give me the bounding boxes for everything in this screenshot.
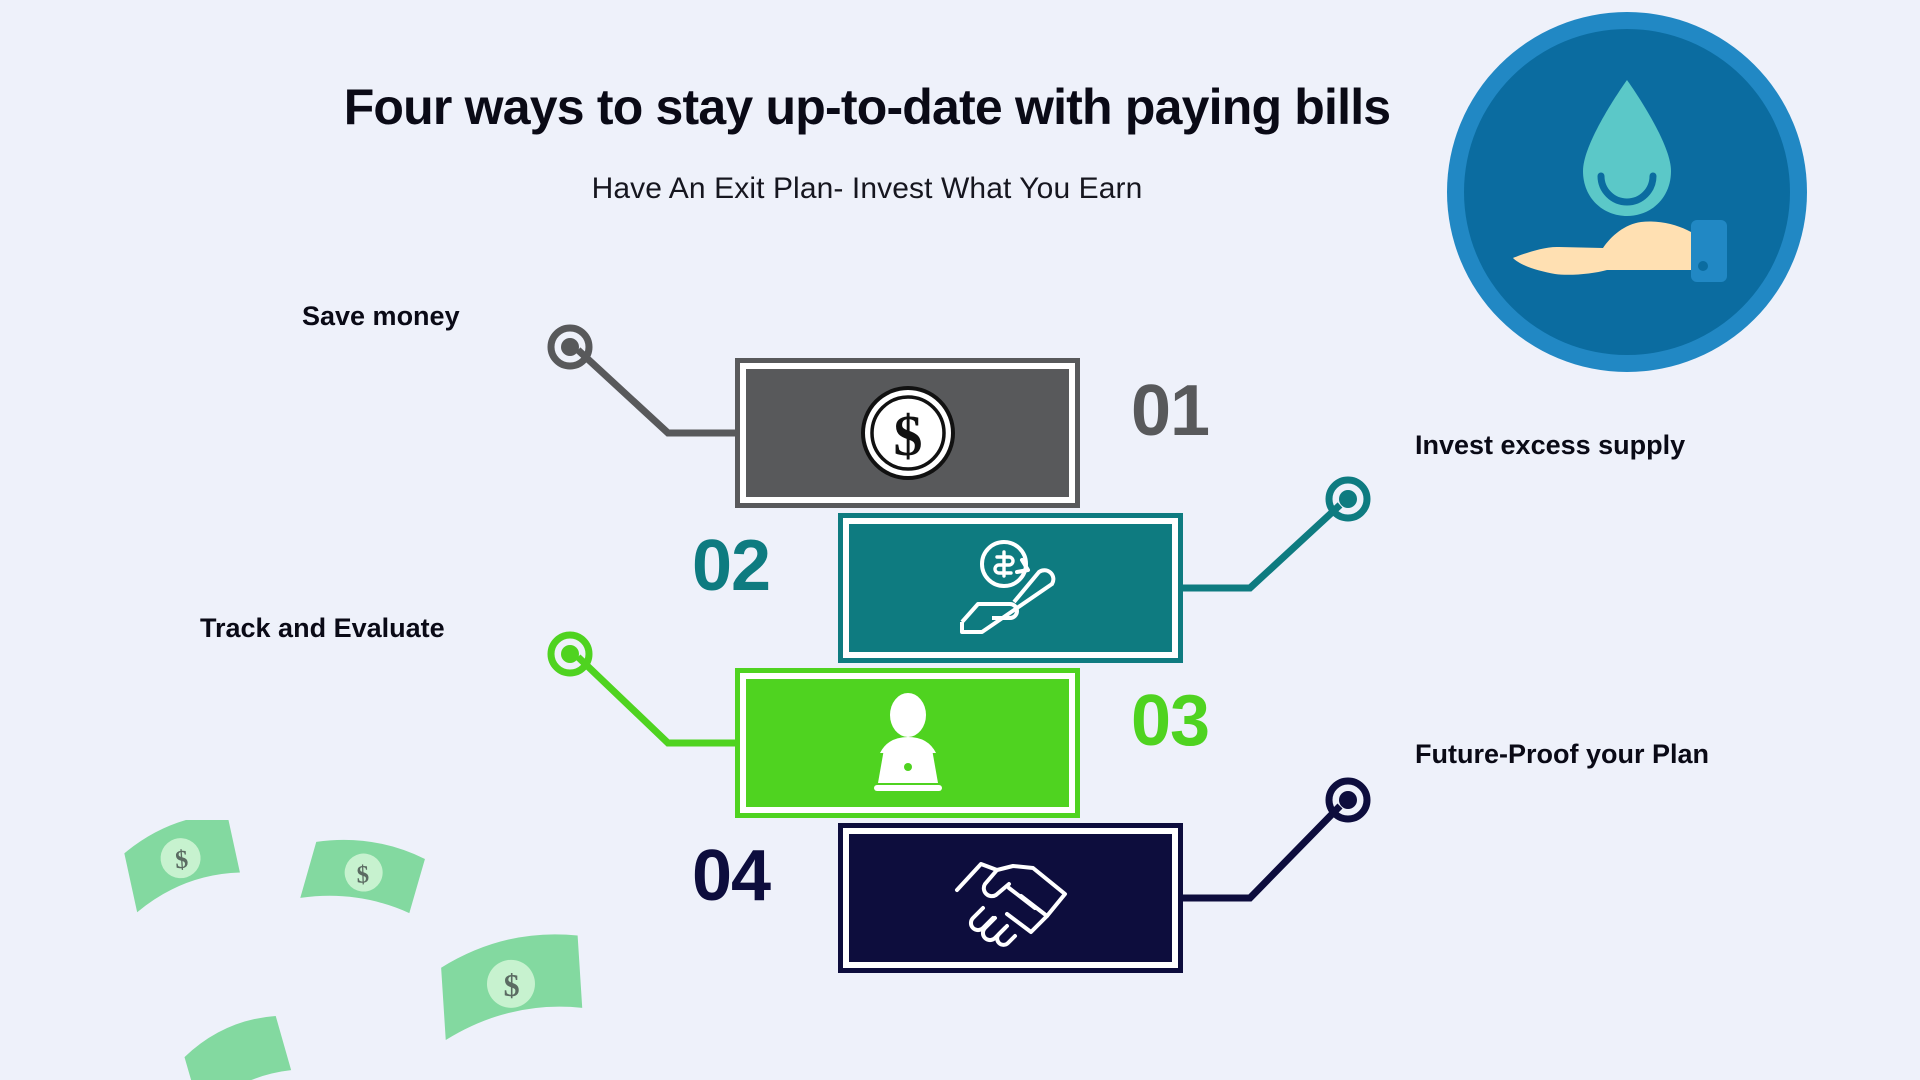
step-bar-04[interactable] <box>838 823 1183 973</box>
step-caption-future-proof-your-plan: Future-Proof your Plan <box>1415 741 1709 768</box>
banknote: $ <box>430 927 591 1040</box>
person-at-laptop-icon <box>860 691 956 795</box>
step-number-01: 01 <box>1131 375 1209 447</box>
step-bar-01[interactable]: $ <box>735 358 1080 508</box>
banknote <box>175 1009 299 1080</box>
banknote: $ <box>115 820 248 912</box>
dollar-coin-icon: $ <box>854 379 962 487</box>
step-number-03: 03 <box>1131 685 1209 757</box>
hand-holding-money-icon <box>952 536 1070 640</box>
step-bar-04-fill <box>849 834 1172 962</box>
connector-01 <box>551 328 735 433</box>
step-number-02: 02 <box>692 530 770 602</box>
svg-text:$: $ <box>504 967 520 1003</box>
step-bar-02-fill <box>849 524 1172 652</box>
infographic-canvas: Four ways to stay up-to-date with paying… <box>0 0 1920 1080</box>
handshake-icon <box>947 846 1075 950</box>
svg-text:$: $ <box>893 403 922 468</box>
step-caption-track-and-evaluate: Track and Evaluate <box>200 615 445 642</box>
step-number-04: 04 <box>692 840 770 912</box>
step-bar-03-fill <box>746 679 1069 807</box>
page-title: Four ways to stay up-to-date with paying… <box>292 80 1442 135</box>
falling-banknotes-decoration: $ $ $ <box>0 820 700 1080</box>
banknote: $ <box>300 831 426 918</box>
step-bar-01-fill: $ <box>746 369 1069 497</box>
water-drop-in-hand-badge <box>1443 8 1811 376</box>
step-bar-03[interactable] <box>735 668 1080 818</box>
svg-text:$: $ <box>356 861 369 888</box>
page-subtitle: Have An Exit Plan- Invest What You Earn <box>292 172 1442 206</box>
connector-04 <box>1183 781 1367 898</box>
step-caption-save-money: Save money <box>302 303 460 330</box>
connector-02 <box>1183 480 1367 588</box>
step-caption-invest-excess-supply: Invest excess supply <box>1415 432 1685 459</box>
connector-03 <box>551 635 735 743</box>
svg-text:$: $ <box>174 845 189 875</box>
step-bar-02[interactable] <box>838 513 1183 663</box>
